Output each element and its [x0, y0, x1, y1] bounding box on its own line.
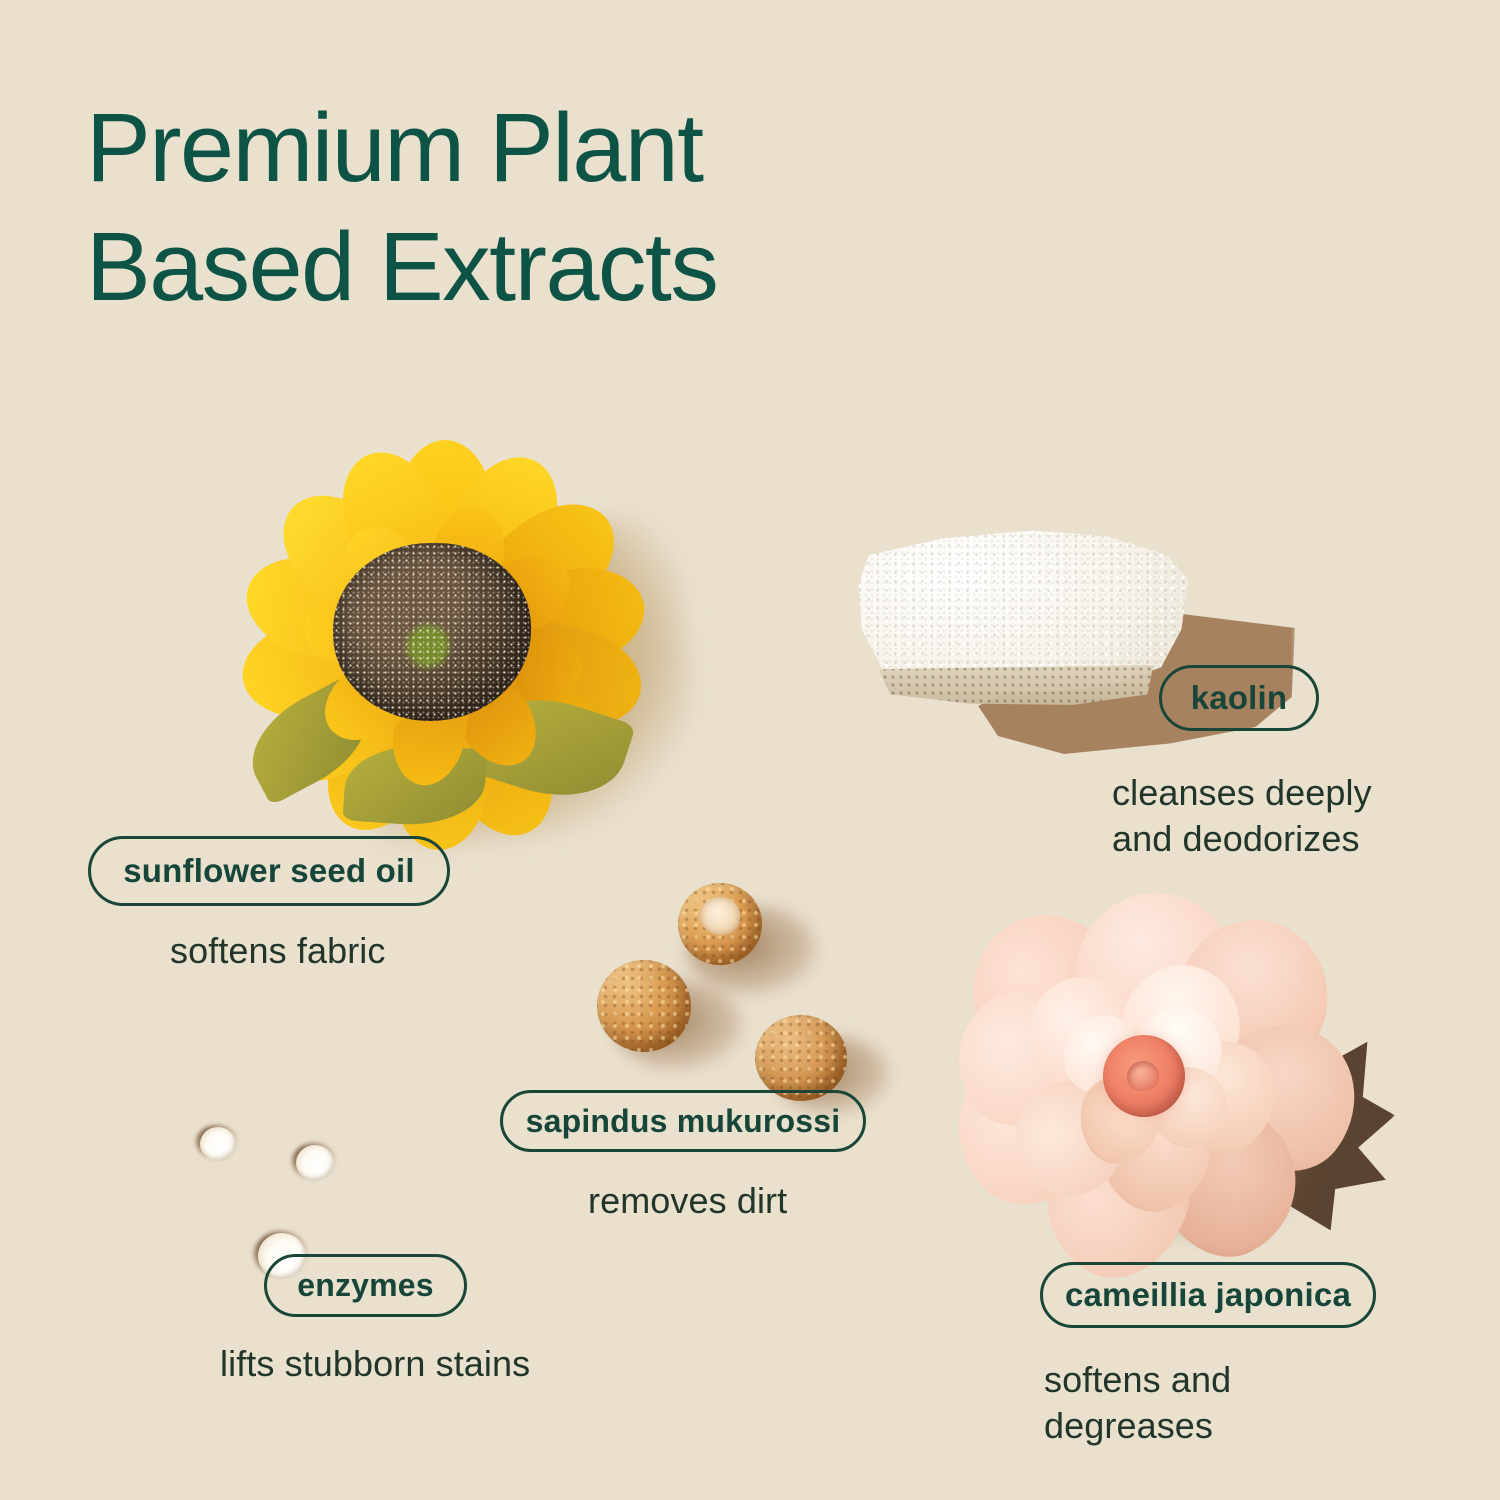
enzyme-bead: [296, 1145, 334, 1181]
page-title: Premium Plant Based Extracts: [86, 88, 1086, 327]
soap-nut: [678, 883, 762, 965]
ingredient-caption-sunflower-seed-oil: softens fabric: [170, 928, 530, 974]
ingredient-pill-cameillia-japonica[interactable]: cameillia japonica: [1040, 1262, 1376, 1328]
enzyme-bead: [200, 1127, 236, 1161]
sunflower-seed-disc: [333, 543, 531, 721]
soap-nut: [597, 960, 691, 1052]
sunflower-flower-photo: [185, 400, 705, 890]
soap-nut: [755, 1015, 847, 1101]
ingredient-pill-kaolin[interactable]: kaolin: [1159, 665, 1319, 731]
ingredient-pill-sunflower-seed-oil[interactable]: sunflower seed oil: [88, 836, 450, 906]
ingredient-caption-enzymes: lifts stubborn stains: [220, 1341, 560, 1387]
enzyme-bead-body: [296, 1145, 334, 1181]
ingredient-caption-cameillia-japonica: softens and degreases: [1044, 1357, 1404, 1448]
camellia-flower-photo: [955, 885, 1375, 1285]
ingredient-caption-kaolin: cleanses deeply and deodorizes: [1112, 770, 1442, 861]
ingredient-pill-sapindus-mukurossi[interactable]: sapindus mukurossi: [500, 1090, 866, 1152]
soap-nuts-photo: [575, 875, 885, 1100]
marketing-graphic: Premium Plant Based Extracts: [0, 0, 1500, 1500]
camellia-center: [1103, 1035, 1185, 1117]
ingredient-caption-sapindus-mukurossi: removes dirt: [588, 1178, 928, 1224]
enzyme-bead-body: [200, 1127, 236, 1161]
ingredient-pill-enzymes[interactable]: enzymes: [264, 1254, 467, 1317]
